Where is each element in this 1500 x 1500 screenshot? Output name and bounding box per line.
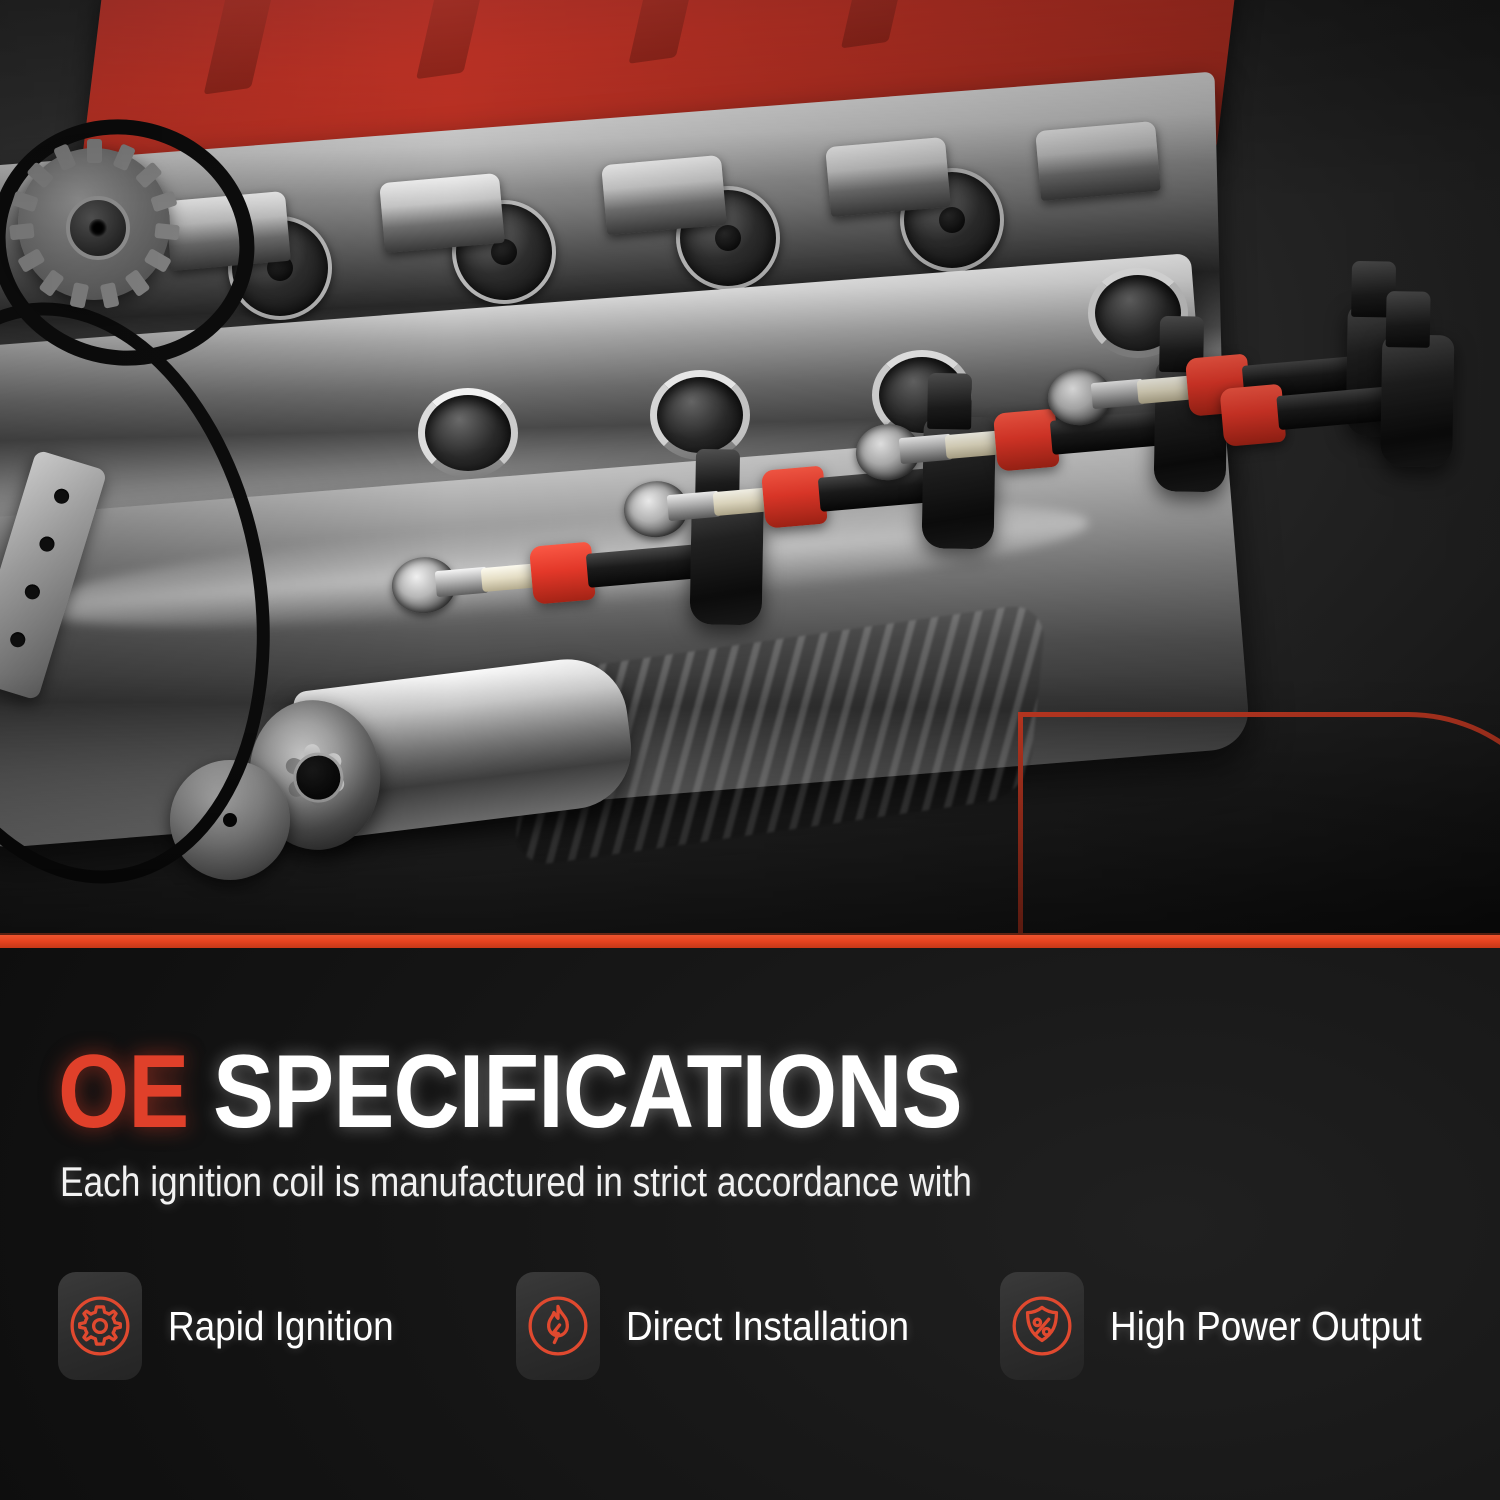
headline-accent-word: OE [58, 1034, 188, 1150]
spark-plug-ceramic [1137, 375, 1193, 404]
feature-item-rapid-ignition: Rapid Ignition [58, 1272, 419, 1380]
feature-text-panel [0, 948, 1500, 1500]
flame-in-circle-icon [516, 1272, 600, 1380]
coil-connector [927, 373, 972, 430]
cam-cap [379, 173, 505, 253]
shield-percent-in-circle-icon [1000, 1272, 1084, 1380]
feature-label: Direct Installation [626, 1303, 909, 1350]
coil-rubber-boot [1219, 384, 1286, 447]
spark-plug-ceramic [713, 487, 769, 516]
spark-plug-ceramic [481, 563, 537, 592]
spark-plug-port [650, 370, 750, 460]
cam-cap [1035, 121, 1161, 201]
feature-label: High Power Output [1110, 1303, 1422, 1350]
product-feature-banner: OE SPECIFICATIONS Each ignition coil is … [0, 0, 1500, 1500]
gear-in-circle-icon [58, 1272, 142, 1380]
feature-list: Rapid Ignition Direct Installation [0, 1272, 1500, 1392]
coil-rubber-boot [529, 542, 596, 605]
spark-plug-port [418, 388, 518, 478]
spark-plug-ceramic [945, 430, 1001, 459]
ignition-coil-body [1380, 334, 1454, 467]
feature-label: Rapid Ignition [168, 1303, 394, 1350]
coil-rubber-boot [993, 409, 1060, 472]
engine-photo [0, 0, 1500, 935]
decorative-corner-outline [1018, 712, 1500, 935]
coil-rubber-boot [761, 466, 828, 529]
accent-divider-bar [0, 933, 1500, 948]
headline-rest: SPECIFICATIONS [188, 1034, 961, 1150]
timing-sprocket [18, 148, 170, 300]
feature-item-high-power-output: High Power Output [1000, 1272, 1456, 1380]
feature-item-direct-installation: Direct Installation [516, 1272, 940, 1380]
cam-cap [601, 155, 727, 235]
cam-cap [825, 137, 951, 217]
subheadline: Each ignition coil is manufactured in st… [60, 1158, 972, 1206]
page-title: OE SPECIFICATIONS [58, 1040, 962, 1144]
coil-connector [1386, 291, 1431, 348]
